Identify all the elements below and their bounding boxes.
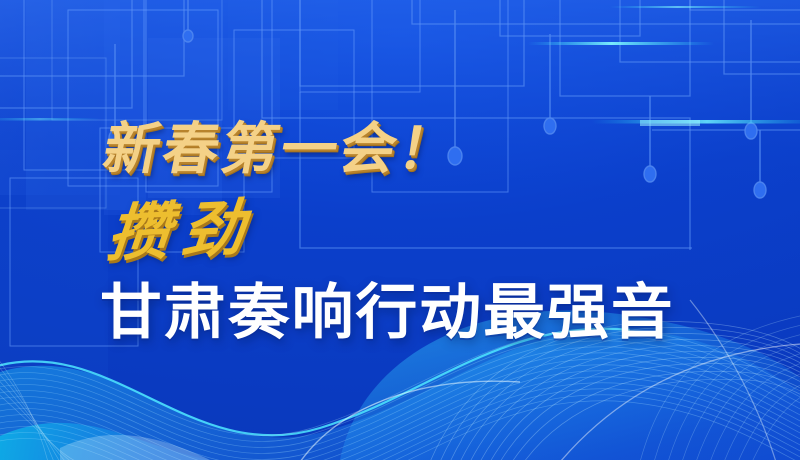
headline-line-3: 甘肃奏响行动最强音 (100, 283, 675, 343)
headline-line-1: 新春第一会！ (99, 122, 464, 178)
headline-line-2-calligraphy: 攒劲 (105, 197, 260, 265)
headline-group: 新春第一会！ 攒劲 甘肃奏响行动最强音 (0, 0, 800, 460)
poster-canvas: 新春第一会！ 攒劲 甘肃奏响行动最强音 (0, 0, 800, 460)
